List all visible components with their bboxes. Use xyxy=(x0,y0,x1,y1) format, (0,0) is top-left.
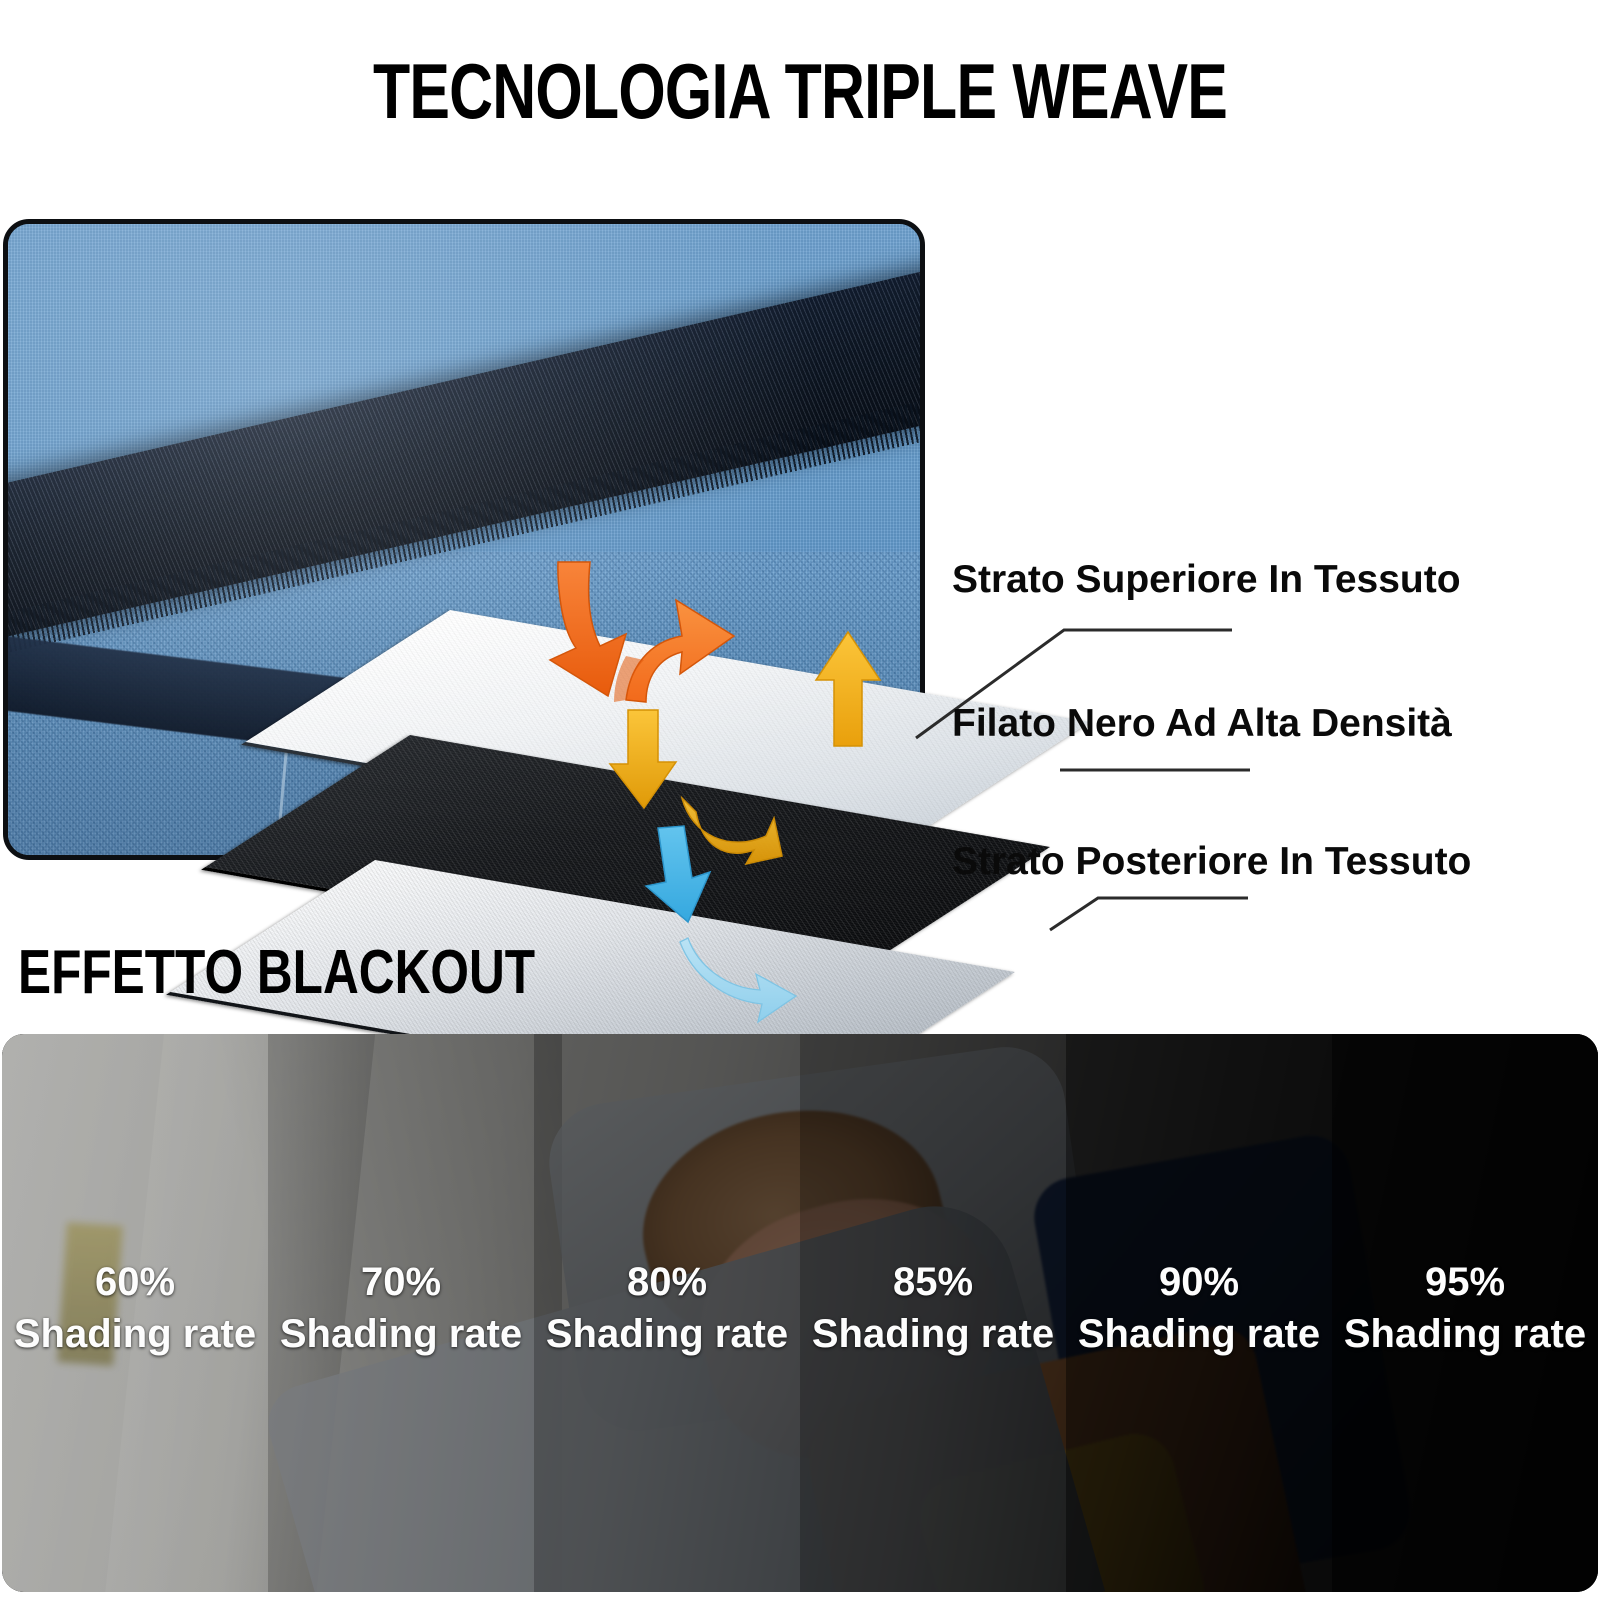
shading-panel-95: 95% Shading rate xyxy=(1332,1034,1598,1592)
layer-diagram xyxy=(430,560,1190,1030)
shading-panel-60: 60% Shading rate xyxy=(2,1034,268,1592)
layer-label-bottom: Strato Posteriore In Tessuto xyxy=(952,840,1471,884)
shading-rate-label: Shading rate xyxy=(1344,1312,1586,1356)
shading-percent: 95% xyxy=(1344,1260,1586,1304)
shading-percent: 80% xyxy=(546,1260,788,1304)
shading-panel-70: 70% Shading rate xyxy=(268,1034,534,1592)
shading-rate-label: Shading rate xyxy=(546,1312,788,1356)
layer-label-top: Strato Superiore In Tessuto xyxy=(952,558,1461,602)
shading-panel-80: 80% Shading rate xyxy=(534,1034,800,1592)
shading-rate-label: Shading rate xyxy=(1078,1312,1320,1356)
shading-rate-label: Shading rate xyxy=(812,1312,1054,1356)
shading-panel-row: 60% Shading rate 70% Shading rate 80% Sh… xyxy=(2,1034,1598,1592)
blackout-comparison-strip: 60% Shading rate 70% Shading rate 80% Sh… xyxy=(2,1034,1598,1592)
shading-rate-label: Shading rate xyxy=(280,1312,522,1356)
shading-percent: 85% xyxy=(812,1260,1054,1304)
page-title: TECNOLOGIA TRIPLE WEAVE xyxy=(176,52,1424,130)
layer-label-middle: Filato Nero Ad Alta Densità xyxy=(952,702,1452,746)
shading-percent: 90% xyxy=(1078,1260,1320,1304)
shading-panel-85: 85% Shading rate xyxy=(800,1034,1066,1592)
blackout-section-title: EFFETTO BLACKOUT xyxy=(18,942,535,1004)
shading-percent: 70% xyxy=(280,1260,522,1304)
infographic-canvas: TECNOLOGIA TRIPLE WEAVE xyxy=(0,0,1600,1600)
shading-percent: 60% xyxy=(14,1260,256,1304)
shading-rate-label: Shading rate xyxy=(14,1312,256,1356)
shading-panel-90: 90% Shading rate xyxy=(1066,1034,1332,1592)
